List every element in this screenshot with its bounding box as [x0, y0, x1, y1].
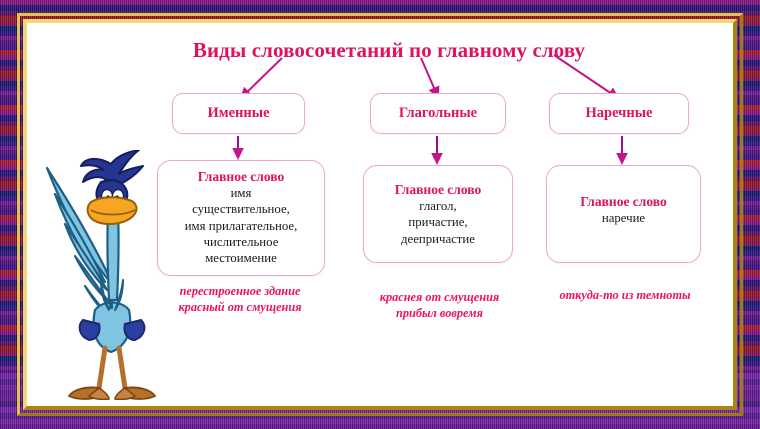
slide-title: Виды словосочетаний по главному слову: [129, 38, 649, 63]
slide-canvas: Виды словосочетаний по главному слову Им…: [0, 0, 760, 429]
detail-box-nominal[interactable]: Главное слово имя существительное, имя п…: [157, 160, 325, 276]
slide-content-area: Виды словосочетаний по главному слову Им…: [29, 25, 731, 404]
category-label: Именные: [207, 105, 269, 122]
detail-body: глагол, причастие, деепричастие: [364, 198, 512, 247]
detail-body: наречие: [547, 210, 700, 226]
category-box-nominal[interactable]: Именные: [172, 93, 305, 134]
example-text-verbal: краснея от смущения прибыл вовремя: [357, 289, 522, 321]
detail-box-verbal[interactable]: Главное слово глагол, причастие, дееприч…: [363, 165, 513, 263]
category-label: Наречные: [586, 105, 653, 122]
example-text-nominal: перестроенное здание красный от смущения: [150, 283, 330, 315]
category-box-verbal[interactable]: Глагольные: [370, 93, 506, 134]
detail-box-adverbial[interactable]: Главное слово наречие: [546, 165, 701, 263]
detail-body: имя существительное, имя прилагательное,…: [158, 185, 324, 266]
detail-heading: Главное слово: [158, 168, 324, 185]
category-box-adverbial[interactable]: Наречные: [549, 93, 689, 134]
example-text-adverbial: откуда-то из темноты: [539, 287, 711, 303]
detail-heading: Главное слово: [364, 181, 512, 198]
detail-heading: Главное слово: [547, 193, 700, 210]
category-label: Глагольные: [399, 105, 477, 122]
